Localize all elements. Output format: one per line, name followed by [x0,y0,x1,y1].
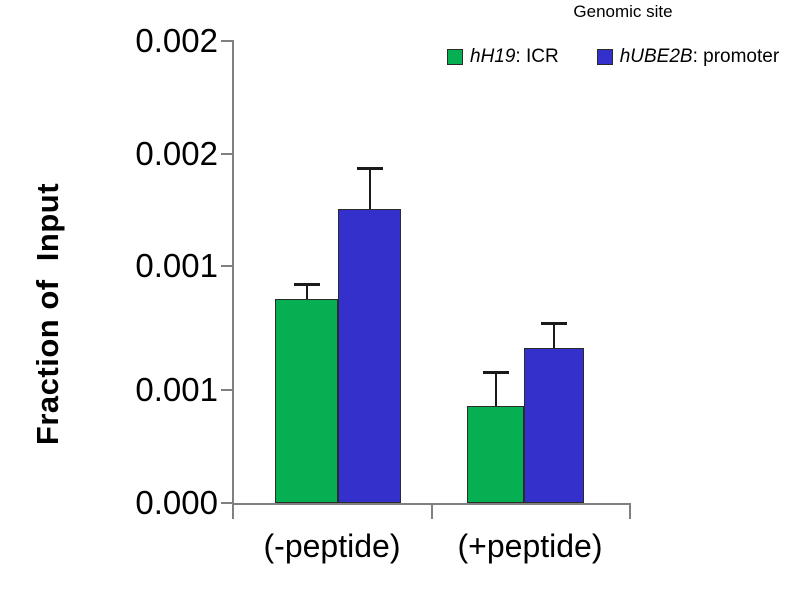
error-bar-stem [495,371,497,406]
legend-item-gene: hUBE2B [620,46,693,68]
error-bar-stem [369,167,371,209]
legend-swatch-blue [597,49,613,65]
y-tick-label-4: 0.000 [48,484,218,522]
legend: Genomic site hH19: ICR hUBE2B: promoter [447,2,799,68]
legend-item-suffix: : promoter [693,46,780,68]
y-tick-label-1: 0.002 [48,135,218,173]
bar-peptide-plus-hH19 [467,406,524,503]
bar-chart-figure: Fraction of Input 0.002 0.002 0.001 0.00… [0,0,800,600]
x-category-label-peptide-plus: (+peptide) [420,528,640,565]
error-bar-cap [483,371,509,374]
error-bar-stem [553,322,555,347]
legend-item-hUBE2B[interactable]: hUBE2B: promoter [597,46,779,68]
y-tick-label-3: 0.001 [48,371,218,409]
x-axis-tick-mark [629,505,631,519]
bar-peptide-minus-hUBE2B [338,209,401,503]
bar-peptide-plus-hUBE2B [524,348,584,503]
y-axis-line [232,40,234,505]
x-axis-tick-mark [232,505,234,519]
legend-entries: hH19: ICR hUBE2B: promoter [447,46,799,68]
y-tick-label-0: 0.002 [48,22,218,60]
x-axis-tick-mark [431,505,433,519]
error-bar-cap [357,167,383,170]
x-category-label-peptide-minus: (-peptide) [222,528,442,565]
error-bar-cap [294,283,320,286]
y-tick-label-2: 0.001 [48,247,218,285]
y-axis-title: Fraction of Input [30,114,66,514]
legend-item-hH19[interactable]: hH19: ICR [447,46,559,68]
legend-item-suffix: : ICR [515,46,558,68]
legend-item-gene: hH19 [470,46,515,68]
error-bar-cap [541,322,567,325]
legend-title: Genomic site [447,2,799,22]
legend-swatch-green [447,49,463,65]
bar-peptide-minus-hH19 [275,299,338,503]
